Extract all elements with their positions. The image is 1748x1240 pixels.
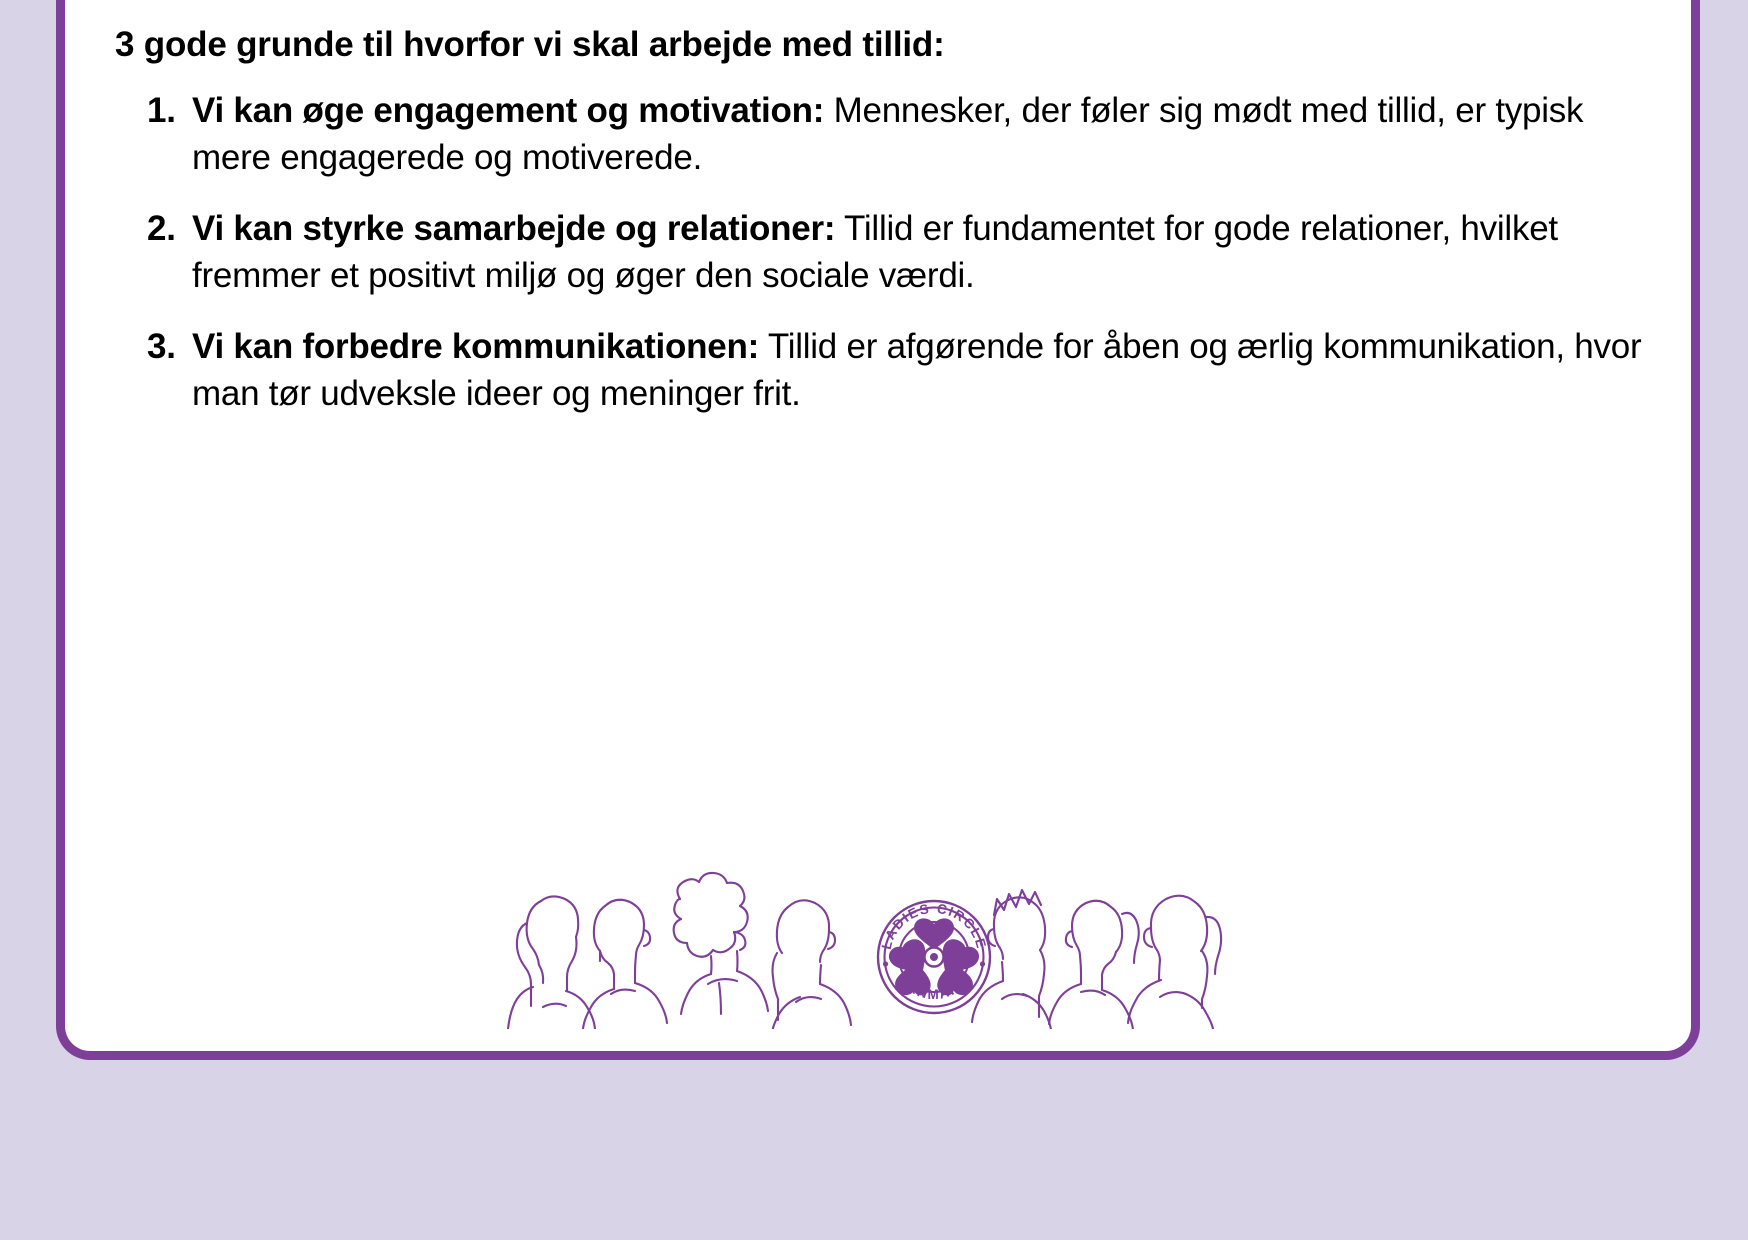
list-item-lead: Vi kan øge engagement og motivation: bbox=[192, 91, 824, 130]
list-item-number: 1. bbox=[147, 88, 176, 135]
content-card: 3 gode grunde til hvorfor vi skal arbejd… bbox=[56, 0, 1700, 1060]
svg-text:DANMARK: DANMARK bbox=[897, 973, 972, 1002]
list-item-number: 2. bbox=[147, 206, 176, 253]
list-item: 2.Vi kan styrke samarbejde og relationer… bbox=[115, 206, 1651, 299]
reasons-list: 1.Vi kan øge engagement og motivation: M… bbox=[115, 88, 1651, 417]
silhouette-figure-3 bbox=[674, 873, 768, 1014]
list-item-number: 3. bbox=[147, 324, 176, 371]
silhouette-figure-7 bbox=[1128, 896, 1221, 1029]
silhouette-figure-2 bbox=[583, 900, 667, 1029]
list-item: 1.Vi kan øge engagement og motivation: M… bbox=[115, 88, 1651, 181]
silhouette-figure-1 bbox=[508, 896, 595, 1029]
logo-bottom-text: DANMARK bbox=[897, 973, 972, 1002]
list-item: 3.Vi kan forbedre kommunikationen: Tilli… bbox=[115, 324, 1651, 417]
list-item-lead: Vi kan forbedre kommunikationen: bbox=[192, 327, 759, 366]
list-item-lead: Vi kan styrke samarbejde og relationer: bbox=[192, 209, 835, 248]
women-silhouettes-illustration: LADIES CIRCLE DANMARK bbox=[505, 844, 1265, 1029]
silhouette-figure-4 bbox=[772, 900, 851, 1029]
page-title: 3 gode grunde til hvorfor vi skal arbejd… bbox=[115, 24, 1651, 66]
slide-canvas: 3 gode grunde til hvorfor vi skal arbejd… bbox=[0, 0, 1748, 1240]
silhouette-figure-6 bbox=[1049, 901, 1139, 1029]
content-area: 3 gode grunde til hvorfor vi skal arbejd… bbox=[115, 24, 1651, 442]
ladies-circle-danmark-logo: LADIES CIRCLE DANMARK bbox=[878, 901, 990, 1013]
